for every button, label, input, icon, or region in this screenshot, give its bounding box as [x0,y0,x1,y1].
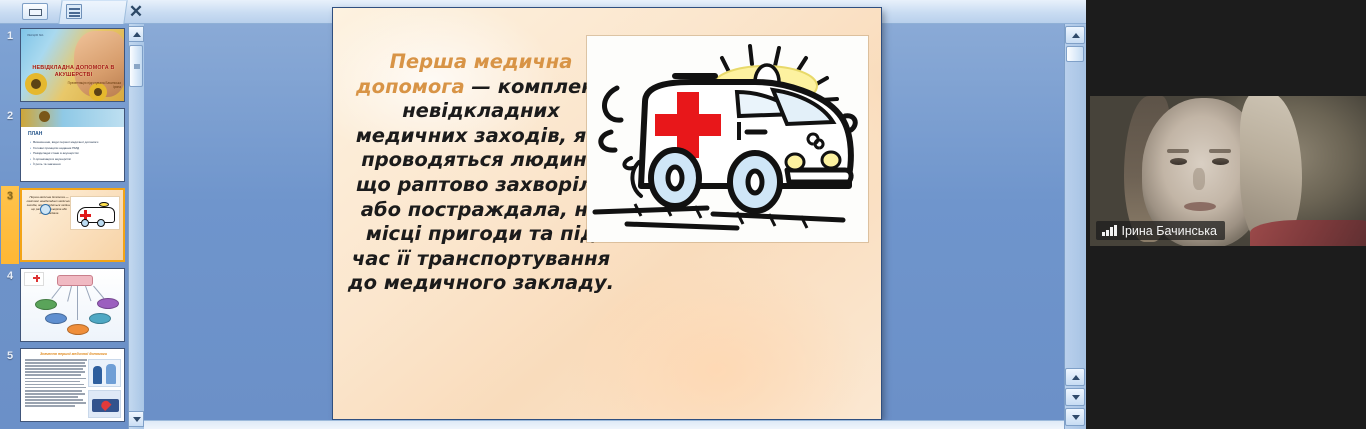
thumbnail-preview: ПЛАН Визначення, види першої медичної до… [20,108,125,182]
slide2-banner [21,109,125,127]
nose [1193,168,1205,190]
thumbnail-scroll-down-button[interactable] [128,411,144,427]
red-cross-stem [36,275,38,282]
shared-powerpoint-window: ✕ 1 ЛЕКЦІЯ №1 НЕВІДКЛАДНА ДОПОМОГА В АКУ… [0,0,1086,429]
slide-stage: Перша медична допомога — комплекс невідк… [144,24,1064,420]
clock-icon [40,204,51,215]
clothing [1250,220,1366,246]
thumbnail-slide-4[interactable]: 4 [0,266,128,346]
thumbnail-number: 2 [3,110,17,122]
thumbnail-number: 5 [3,350,17,362]
chevron-up-icon [1072,33,1080,38]
thumbnail-slide-2[interactable]: 2 ПЛАН Визначення, види першої медичної … [0,106,128,186]
diagram-link [85,286,91,301]
helping-people-illustration [88,359,121,387]
status-strip [144,420,1064,429]
minimize-button[interactable] [22,3,48,20]
eye-left [1170,158,1187,165]
thumbnail-slide-5[interactable]: 5 Значення першої медичної допомоги [0,346,128,426]
slide1-subtitle: Презентацію підготувала Бачинська Ірина [61,81,121,89]
signal-bars-icon [1102,225,1117,236]
person-1 [93,366,102,384]
eyebrow-right [1209,149,1231,153]
slide2-bullets: Визначення, види першої медичної допомог… [30,140,122,168]
outline-list-icon [66,4,82,19]
slide4-art [21,269,124,341]
thumbnail-preview: Значення першої медичної допомоги [20,348,125,422]
slide1-title: НЕВІДКЛАДНА ДОПОМОГА В АКУШЕРСТВІ [25,65,122,79]
eyebrow-left [1167,149,1189,153]
slide3-art: Перша медична допомога — комплекс невідк… [22,190,123,260]
ambulance-svg [587,36,868,242]
eye-right [1212,158,1229,165]
slide5-title: Значення першої медичної допомоги [25,352,122,356]
participant-name-label: Ірина Бачинська [1122,224,1217,238]
thumbnail-scrollbar-thumb[interactable] [129,45,143,87]
ambulance-illustration-small [88,390,121,418]
thumbnail-scroll-up-button[interactable] [128,26,144,42]
scroll-down-button[interactable] [1065,408,1085,426]
red-cross-icon-bar [80,214,91,217]
current-slide: Перша медична допомога — комплекс невідк… [333,8,881,419]
participant-video-tile[interactable]: Ірина Бачинська [1090,96,1366,246]
slide1-topline: ЛЕКЦІЯ №1 [27,33,44,37]
grip-icon [134,64,140,69]
diagram-node-1 [35,299,57,310]
minimize-icon [29,9,42,16]
first-aid-illustration [24,272,44,286]
sunflower-center-3 [39,111,50,122]
slide-dash: — [465,75,498,98]
chevron-up-icon [133,32,141,37]
slide5-text-block [25,359,87,409]
sunflower-center [31,79,41,89]
ambulance-thumb [70,196,120,230]
thumbnail-slide-1[interactable]: 1 ЛЕКЦІЯ №1 НЕВІДКЛАДНА ДОПОМОГА В АКУШЕ… [0,26,128,106]
diagram-link [77,286,78,320]
slide-thumbnail-rail[interactable]: 1 ЛЕКЦІЯ №1 НЕВІДКЛАДНА ДОПОМОГА В АКУШЕ… [0,24,128,429]
mouth [1184,202,1216,211]
next-slide-button[interactable] [1065,388,1085,406]
diagram-node-3 [67,324,89,335]
double-chevron-down-icon [1072,395,1080,400]
sunflower-center-2 [94,88,102,96]
video-panel: Ірина Бачинська [1086,0,1366,429]
diagram-link [67,286,72,302]
slide-body-text: Перша медична допомога — комплекс невідк… [345,50,617,296]
diagram-header-node [57,275,93,286]
slide2-title: ПЛАН [28,131,42,137]
chevron-down-icon [133,417,141,422]
chevron-down-icon [1072,415,1080,420]
slide-paragraph: комплекс невідкладних медичних заходів, … [348,75,614,295]
slide1-art: ЛЕКЦІЯ №1 НЕВІДКЛАДНА ДОПОМОГА В АКУШЕРС… [21,29,124,101]
diagram-node-4 [89,313,111,324]
double-chevron-up-icon [1072,375,1080,380]
thumbnail-number: 3 [3,190,17,202]
close-icon[interactable]: ✕ [126,2,146,22]
thumbnail-preview [20,268,125,342]
thumbnail-number: 1 [3,30,17,42]
diagram-link [51,286,62,299]
ambulance-illustration [587,36,868,242]
thumbnail-preview: Перша медична допомога — комплекс невідк… [20,188,125,262]
list-item: Її роль та значення [30,162,122,168]
diagram-node-5 [97,298,119,309]
wheel-rear [97,219,105,227]
slide5-art: Значення першої медичної допомоги [21,349,124,421]
thumbnail-number: 4 [3,270,17,282]
scroll-up-button[interactable] [1065,26,1085,44]
wheel-front [81,219,89,227]
thumbnail-preview: ЛЕКЦІЯ №1 НЕВІДКЛАДНА ДОПОМОГА В АКУШЕРС… [20,28,125,102]
participant-name-badge: Ірина Бачинська [1096,221,1225,240]
screen-root: ✕ 1 ЛЕКЦІЯ №1 НЕВІДКЛАДНА ДОПОМОГА В АКУ… [0,0,1366,429]
slide-scrollbar-thumb[interactable] [1066,46,1084,62]
diagram-node-2 [45,313,67,324]
person-2 [106,364,116,384]
previous-slide-button[interactable] [1065,368,1085,386]
diagram-link [93,286,104,299]
slide2-art: ПЛАН Визначення, види першої медичної до… [21,109,124,181]
thumbnail-slide-3[interactable]: 3 Перша медична допомога — комплекс неві… [0,186,128,266]
